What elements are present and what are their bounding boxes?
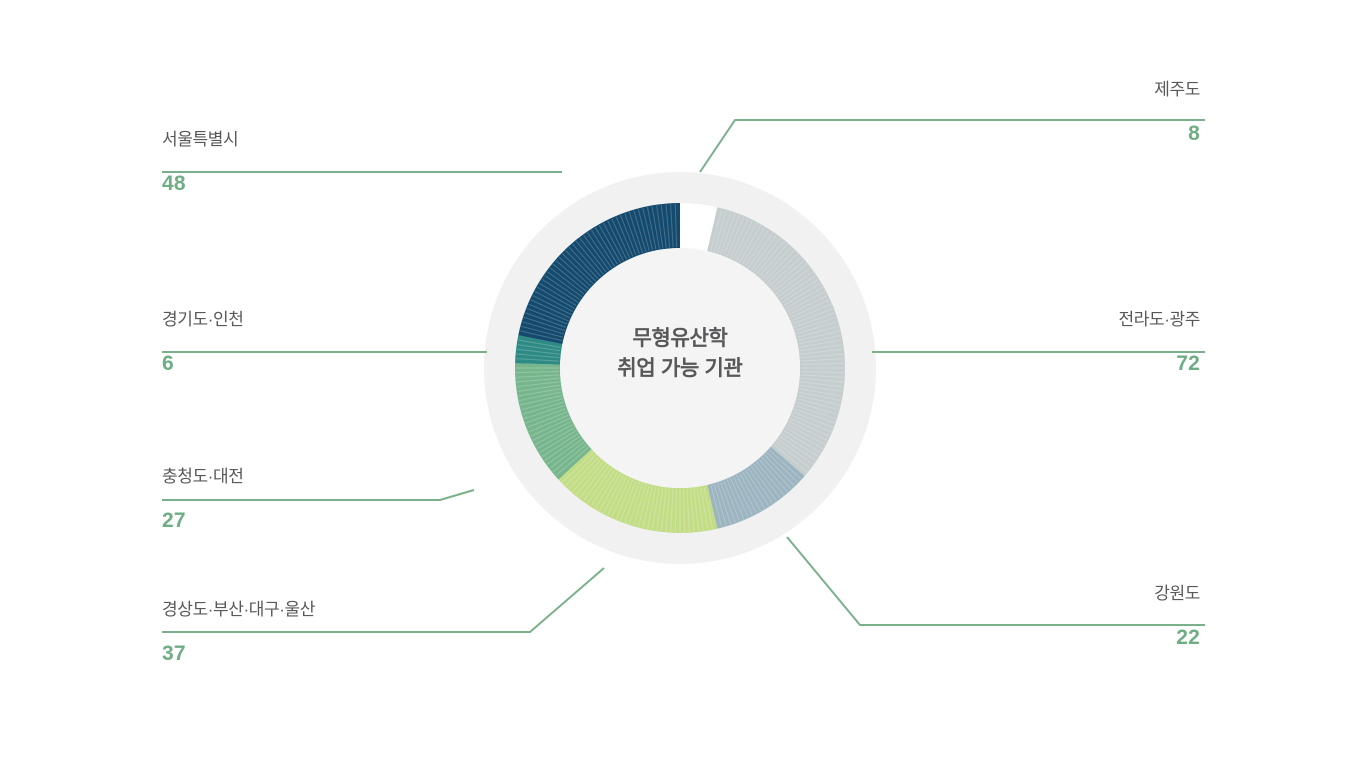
callout-value-jeolla: 72 — [870, 339, 1200, 374]
callout-label-seoul: 서울특별시 — [162, 131, 492, 159]
callout-label-jeju: 제주도 — [870, 81, 1200, 109]
callout-value-seoul: 48 — [162, 159, 492, 194]
callout-label-gyeonggi: 경기도·인천 — [162, 311, 492, 339]
callout-jeolla: 전라도·광주 72 — [870, 311, 1200, 374]
chart-canvas: 무형유산학 취업 가능 기관 서울특별시 48 경기도·인천 6 충청도·대전 … — [0, 0, 1359, 769]
callout-jeju: 제주도 8 — [870, 81, 1200, 144]
callout-gyeongsang: 경상도·부산·대구·울산 37 — [162, 601, 492, 664]
callout-value-chungcheong: 27 — [162, 496, 492, 531]
donut-hole — [560, 248, 800, 488]
callout-chungcheong: 충청도·대전 27 — [162, 468, 492, 531]
callout-gyeonggi: 경기도·인천 6 — [162, 311, 492, 374]
callout-seoul: 서울특별시 48 — [162, 131, 492, 194]
callout-label-chungcheong: 충청도·대전 — [162, 468, 492, 496]
callout-value-jeju: 8 — [870, 109, 1200, 144]
callout-gangwon: 강원도 22 — [870, 585, 1200, 648]
callout-label-jeolla: 전라도·광주 — [870, 311, 1200, 339]
callout-value-gyeongsang: 37 — [162, 629, 492, 664]
callout-value-gangwon: 22 — [870, 613, 1200, 648]
callout-label-gyeongsang: 경상도·부산·대구·울산 — [162, 601, 492, 629]
callout-value-gyeonggi: 6 — [162, 339, 492, 374]
callout-label-gangwon: 강원도 — [870, 585, 1200, 613]
